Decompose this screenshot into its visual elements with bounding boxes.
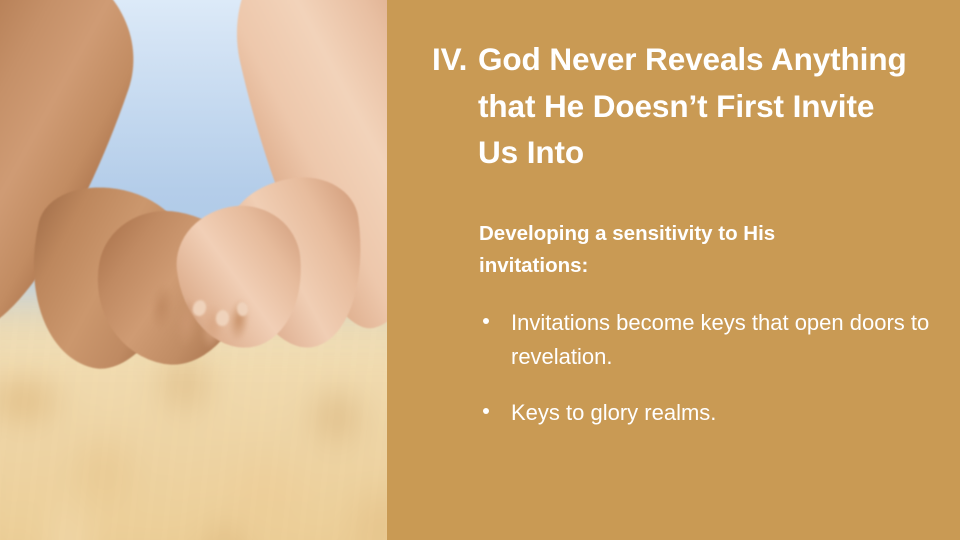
title-line-3: Us Into [432, 129, 952, 176]
title-line-2: that He Doesn’t First Invite [432, 83, 952, 130]
title-numeral: IV. [432, 36, 478, 83]
slide-photo [0, 0, 387, 540]
title-line-1-text: God Never Reveals Anything [478, 41, 907, 77]
subtitle-line-2: invitations: [479, 250, 919, 282]
title-line-2-text: that He Doesn’t First Invite [478, 88, 874, 124]
title-line-3-text: Us Into [478, 134, 584, 170]
bullet-dot-icon [483, 318, 489, 324]
list-item: Keys to glory realms. [479, 396, 939, 430]
bullet-dot-icon [483, 408, 489, 414]
list-item: Invitations become keys that open doors … [479, 306, 939, 374]
list-item-text: Keys to glory realms. [511, 400, 716, 425]
slide-title: IV.God Never Reveals Anything that He Do… [432, 36, 952, 176]
slide-content-panel: IV.God Never Reveals Anything that He Do… [387, 0, 960, 540]
list-item-text: Invitations become keys that open doors … [511, 310, 929, 369]
bullet-list: Invitations become keys that open doors … [479, 306, 939, 452]
subtitle-line-1: Developing a sensitivity to His [479, 218, 919, 250]
presentation-slide: IV.God Never Reveals Anything that He Do… [0, 0, 960, 540]
slide-subtitle: Developing a sensitivity to His invitati… [479, 218, 919, 283]
title-line-1: IV.God Never Reveals Anything [432, 36, 952, 83]
